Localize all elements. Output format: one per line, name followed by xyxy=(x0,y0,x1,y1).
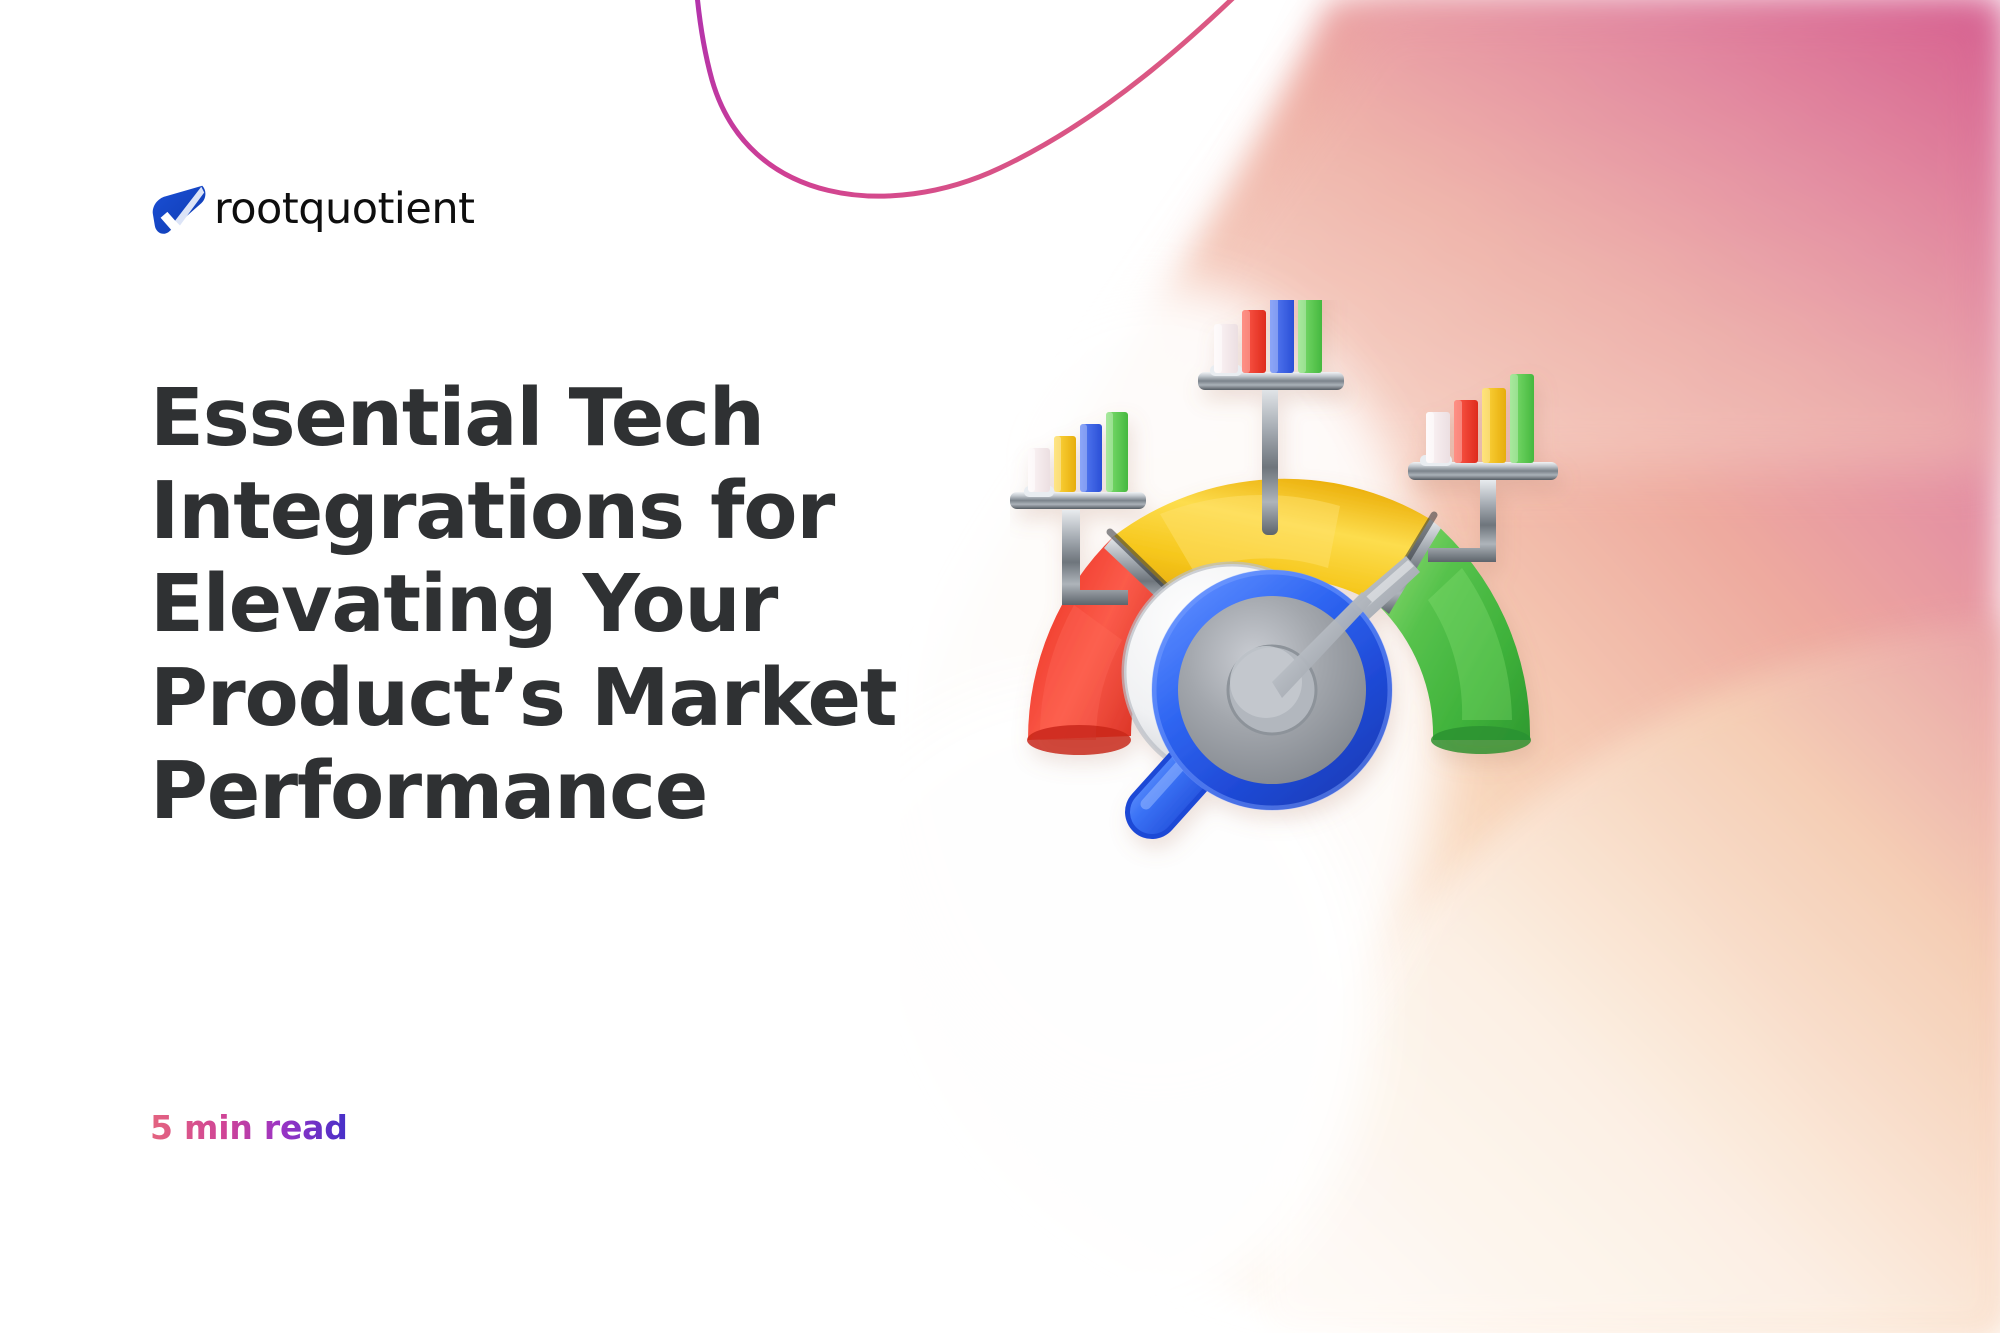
page-title: Essential Tech Integrations for Elevatin… xyxy=(150,372,970,838)
brand-wordmark: rootquotient xyxy=(214,188,474,231)
hero-slide: rootquotient Essential Tech Integrations… xyxy=(0,0,2000,1333)
performance-gauge-illustration xyxy=(1010,300,1620,940)
decorative-loop-curve-icon xyxy=(640,0,1340,220)
right-stand-pole xyxy=(1428,480,1496,562)
rootquotient-checkmark-logo-icon xyxy=(148,178,210,240)
magnifier xyxy=(1124,564,1390,812)
title-line-2: Integrations for xyxy=(150,465,970,558)
title-line-4: Product’s Market xyxy=(150,652,970,745)
brand-logo[interactable]: rootquotient xyxy=(148,178,474,240)
gauge-icon xyxy=(1010,300,1620,940)
top-stand-pole xyxy=(1262,385,1278,535)
title-line-3: Elevating Your xyxy=(150,558,970,651)
title-line-5: Performance xyxy=(150,745,970,838)
title-line-1: Essential Tech xyxy=(150,372,970,465)
read-time-label: 5 min read xyxy=(150,1108,348,1147)
gauge-body xyxy=(1010,300,1558,812)
